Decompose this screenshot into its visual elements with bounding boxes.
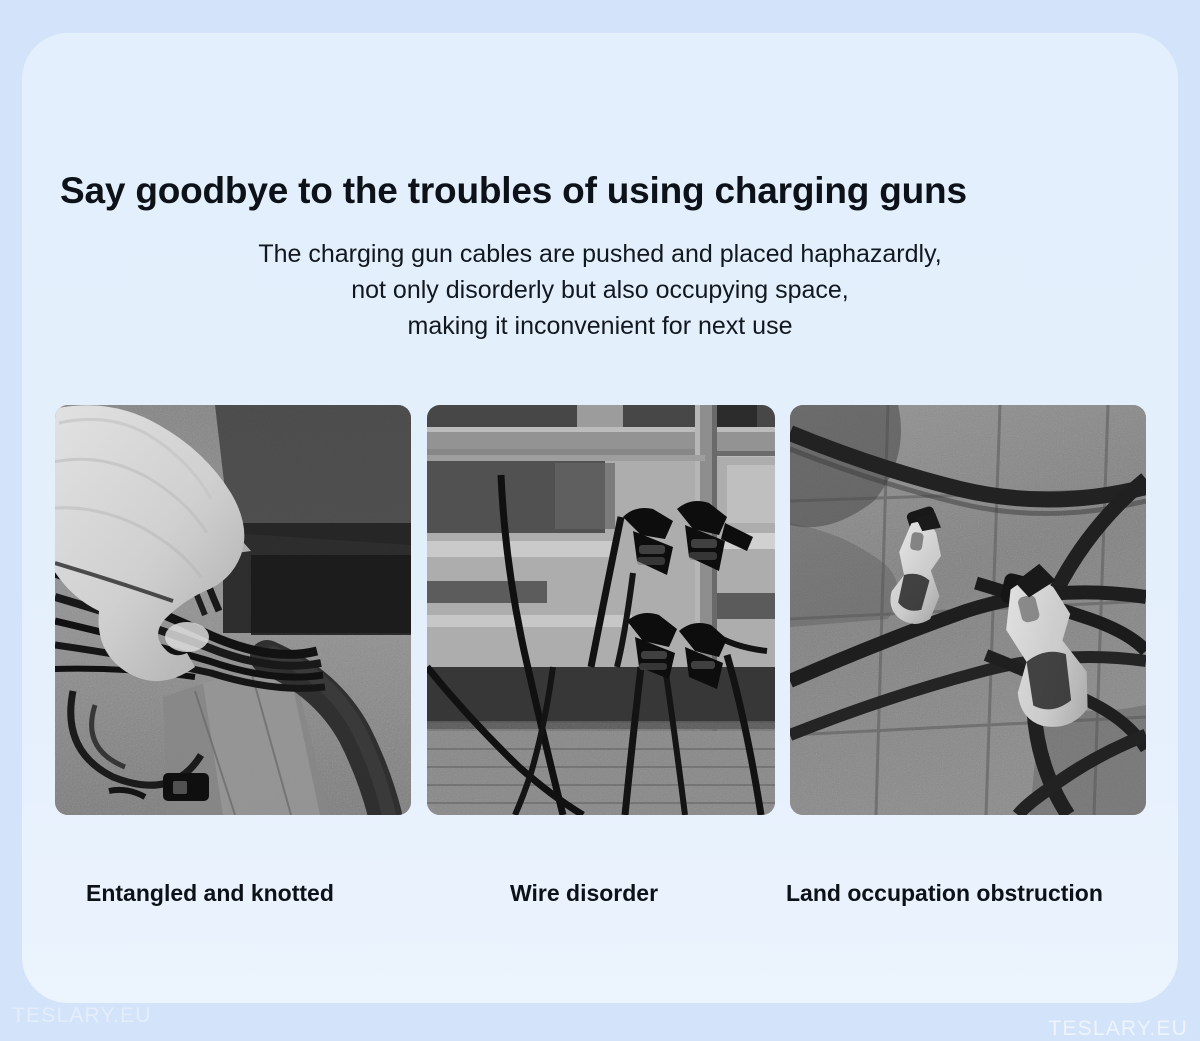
subtitle-line-1: The charging gun cables are pushed and p… [0, 236, 1200, 272]
promo-banner: Say goodbye to the troubles of using cha… [0, 0, 1200, 1041]
caption-wire-disorder: Wire disorder [510, 880, 658, 907]
photo-panel-land-occupation [790, 405, 1146, 815]
image-land-occupation-obstruction [790, 405, 1146, 815]
subtitle-line-3: making it inconvenient for next use [0, 308, 1200, 344]
caption-land-occupation-obstruction: Land occupation obstruction [786, 880, 1103, 907]
watermark-left: TESLARY.EU [12, 1004, 152, 1028]
watermark-right: TESLARY.EU [1048, 1017, 1188, 1041]
page-title: Say goodbye to the troubles of using cha… [60, 170, 1150, 212]
image-entangled-and-knotted [55, 405, 411, 815]
photo-panel-entangled [55, 405, 411, 815]
caption-entangled-and-knotted: Entangled and knotted [86, 880, 334, 907]
image-wire-disorder [427, 405, 775, 815]
photo-panel-wire-disorder [427, 405, 775, 815]
subtitle-line-2: not only disorderly but also occupying s… [0, 272, 1200, 308]
page-subtitle: The charging gun cables are pushed and p… [0, 236, 1200, 344]
